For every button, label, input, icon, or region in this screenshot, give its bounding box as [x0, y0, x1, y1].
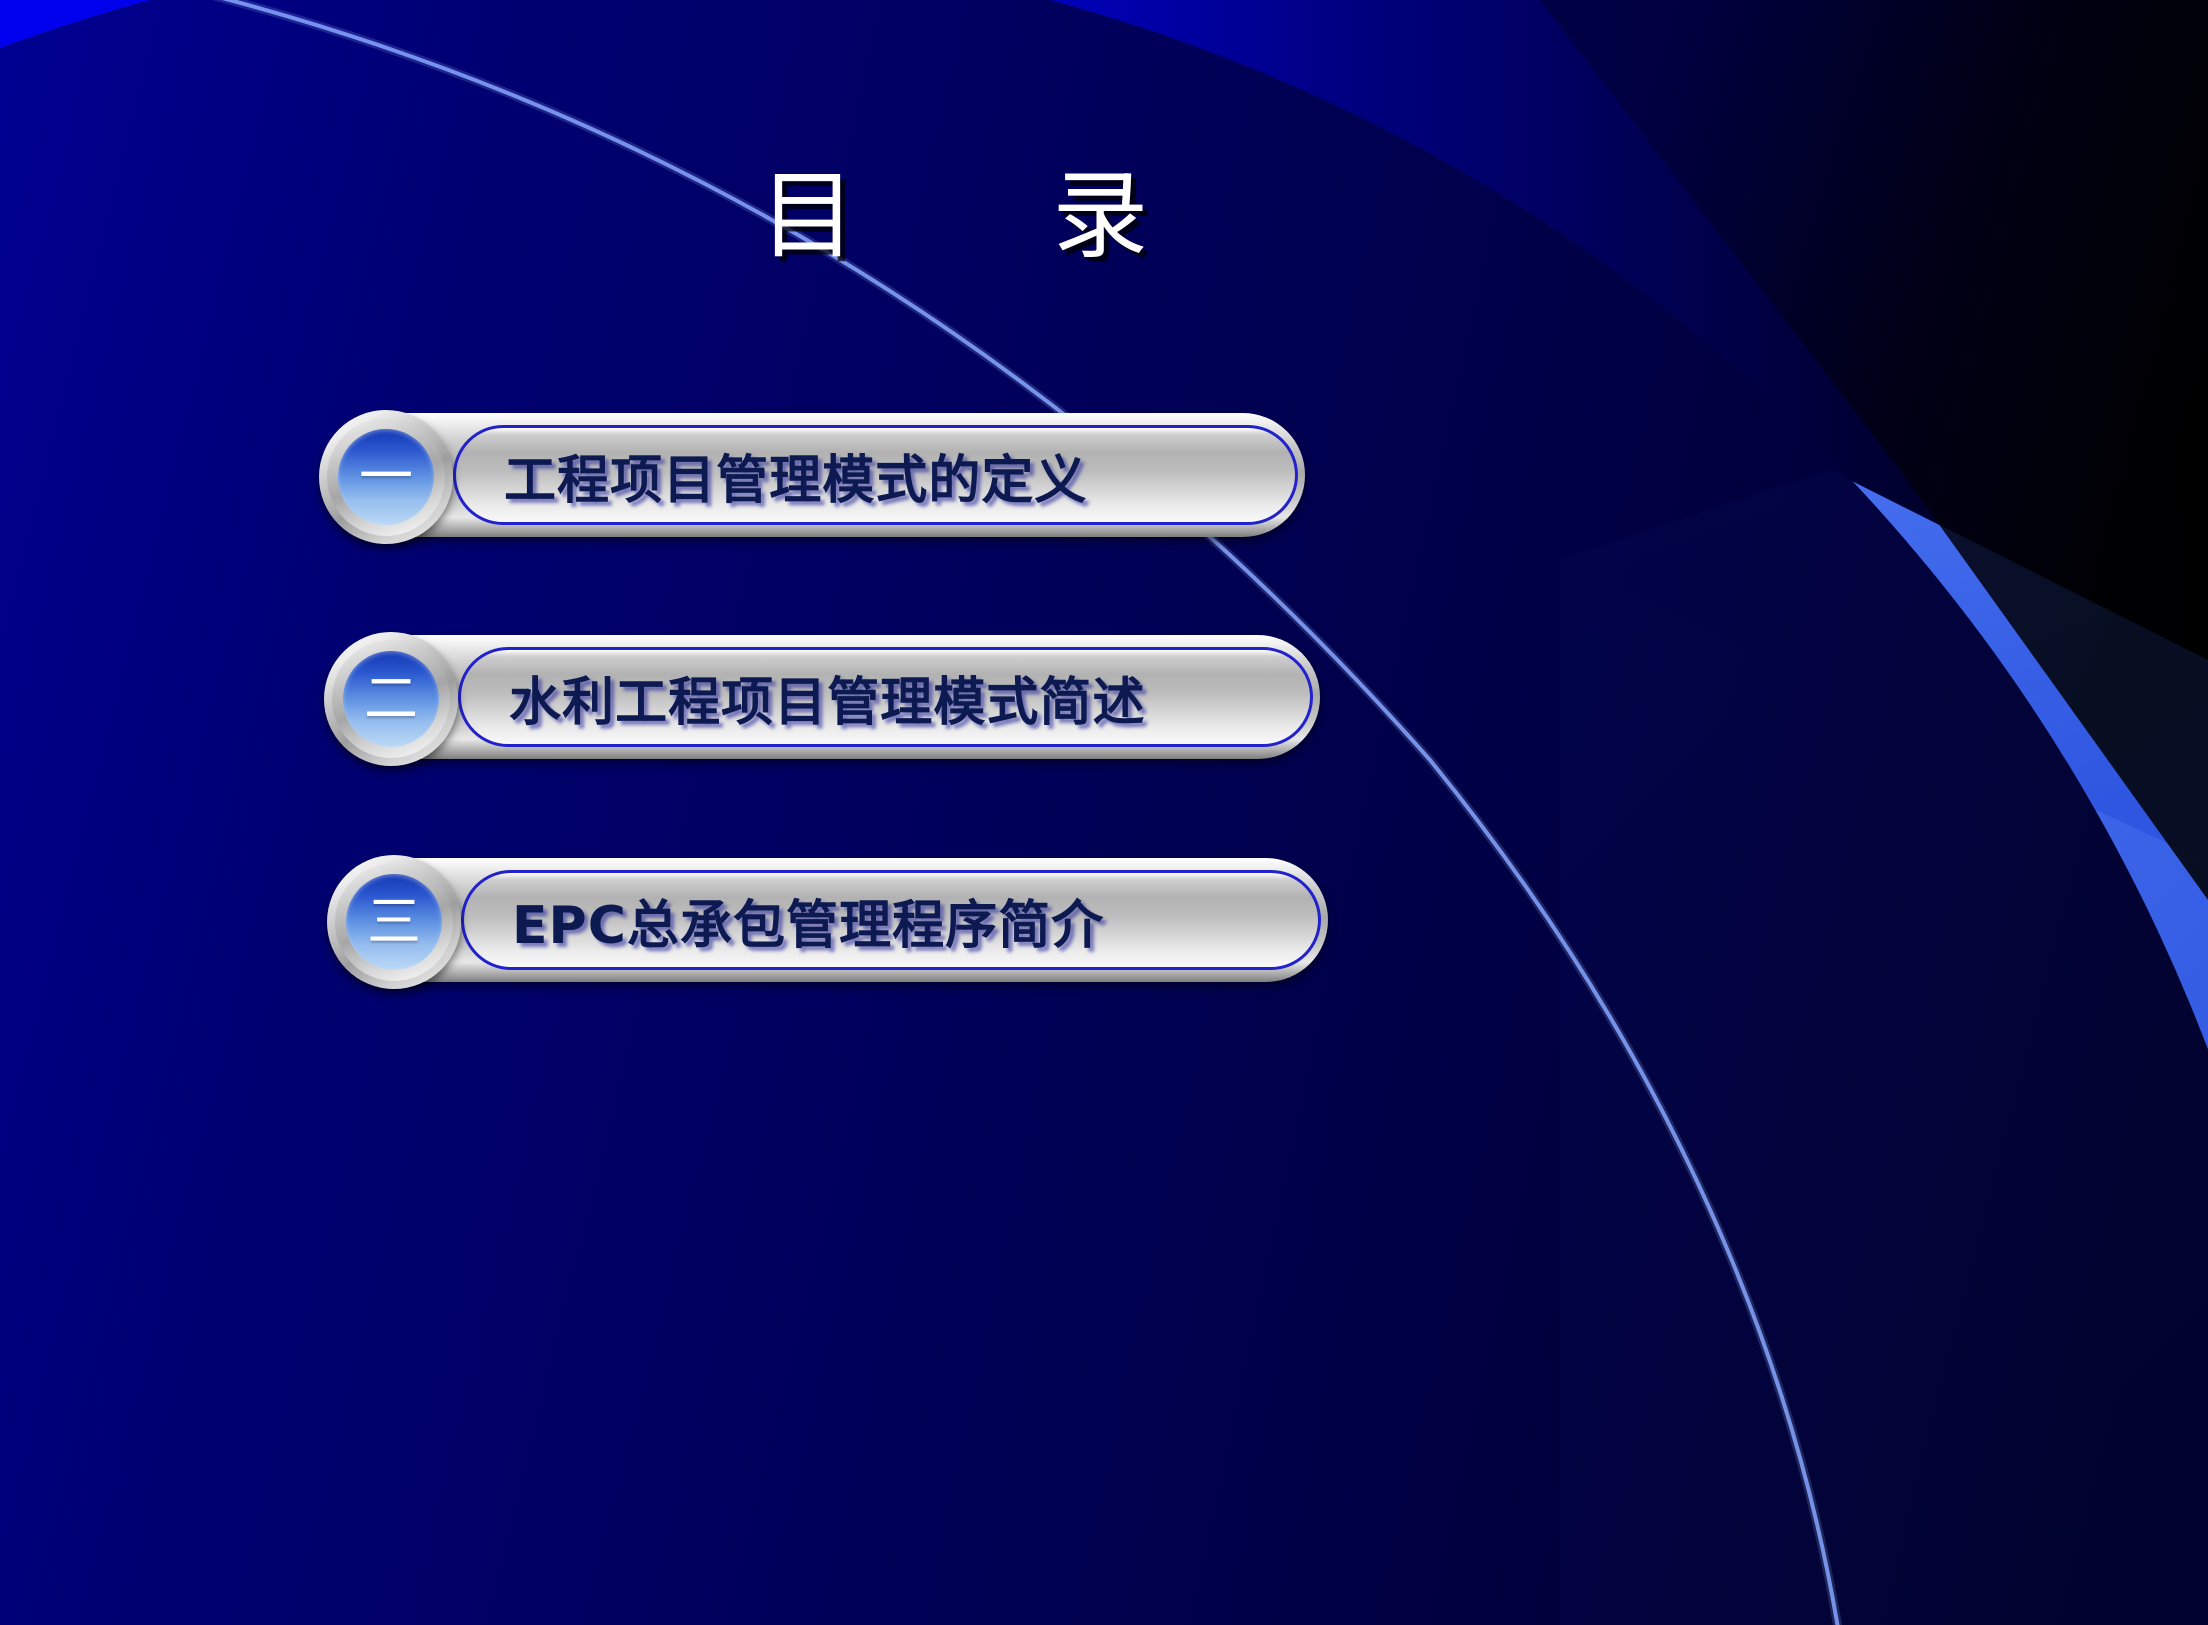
- agenda-row-2[interactable]: 水利工程项目管理模式简述: [330, 635, 1320, 759]
- badge-number-2: 二: [364, 672, 418, 726]
- badge-ring-3: 三: [335, 863, 453, 981]
- badge-ring-2: 二: [332, 640, 450, 758]
- agenda-badge-3[interactable]: 三: [327, 855, 461, 989]
- badge-disc-2: 二: [343, 651, 439, 747]
- agenda-row-3[interactable]: EPC总承包管理程序简介: [333, 858, 1328, 982]
- agenda-label-3: EPC总承包管理程序简介: [512, 883, 1104, 958]
- badge-number-3: 三: [367, 895, 421, 949]
- agenda-badge-1[interactable]: 一: [319, 410, 453, 544]
- badge-number-1: 一: [359, 450, 413, 504]
- agenda-row-1[interactable]: 工程项目管理模式的定义: [325, 413, 1305, 537]
- agenda-pill-1[interactable]: 工程项目管理模式的定义: [453, 425, 1298, 525]
- agenda-pill-2[interactable]: 水利工程项目管理模式简述: [458, 647, 1313, 747]
- agenda-label-1: 工程项目管理模式的定义: [504, 438, 1087, 513]
- agenda-badge-2[interactable]: 二: [324, 632, 458, 766]
- presentation-slide: 目 录 工程项目管理模式的定义 一 水利工程项目管理模式简述 二 E: [0, 0, 2208, 1625]
- agenda-label-2: 水利工程项目管理模式简述: [509, 660, 1145, 735]
- badge-ring-1: 一: [327, 418, 445, 536]
- agenda-pill-3[interactable]: EPC总承包管理程序简介: [461, 870, 1321, 970]
- badge-disc-1: 一: [338, 429, 434, 525]
- page-title: 目 录: [0, 168, 1910, 264]
- badge-disc-3: 三: [346, 874, 442, 970]
